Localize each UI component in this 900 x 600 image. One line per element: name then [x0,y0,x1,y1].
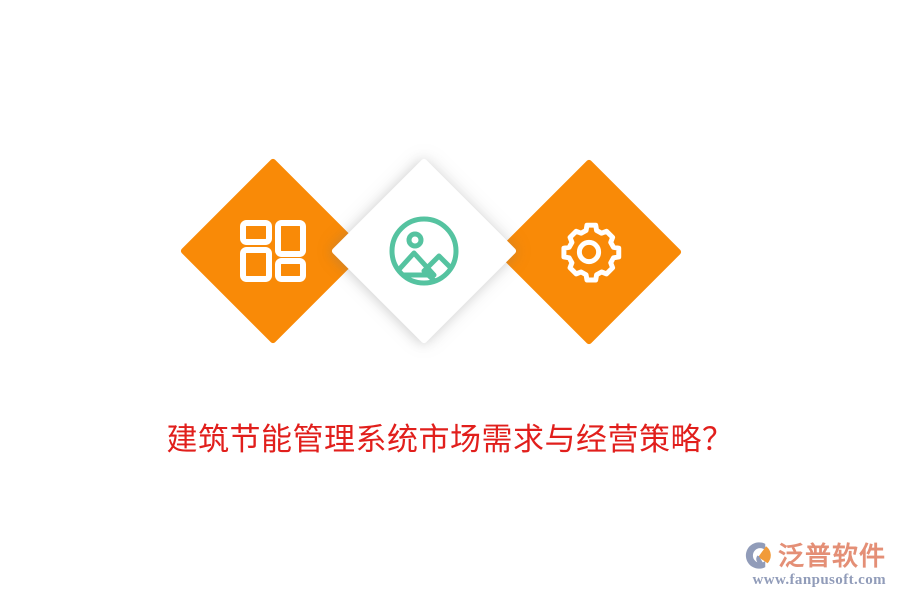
watermark-brand-row: 泛普软件 [742,540,886,571]
diamond-cluster [0,0,900,400]
gear-settings-icon [554,217,624,287]
fanpu-logo-icon [742,540,773,571]
tile-image-icon-wrap [358,185,490,317]
grid-squares-icon [237,215,309,287]
tile-settings[interactable] [496,159,683,346]
image-picture-icon [386,213,462,289]
tile-settings-icon-wrap [523,186,655,318]
watermark-url-text: www.fanpusoft.com [753,573,886,588]
tile-grid-icon-wrap [207,185,339,317]
page-title: 建筑节能管理系统市场需求与经营策略？ [0,418,900,462]
tile-image[interactable] [331,158,518,345]
page-canvas: 建筑节能管理系统市场需求与经营策略？ 泛普软件 www.fanpusoft.co… [0,0,900,600]
watermark-logo: 泛普软件 www.fanpusoft.com [742,540,886,588]
watermark-brand-text: 泛普软件 [778,543,886,569]
